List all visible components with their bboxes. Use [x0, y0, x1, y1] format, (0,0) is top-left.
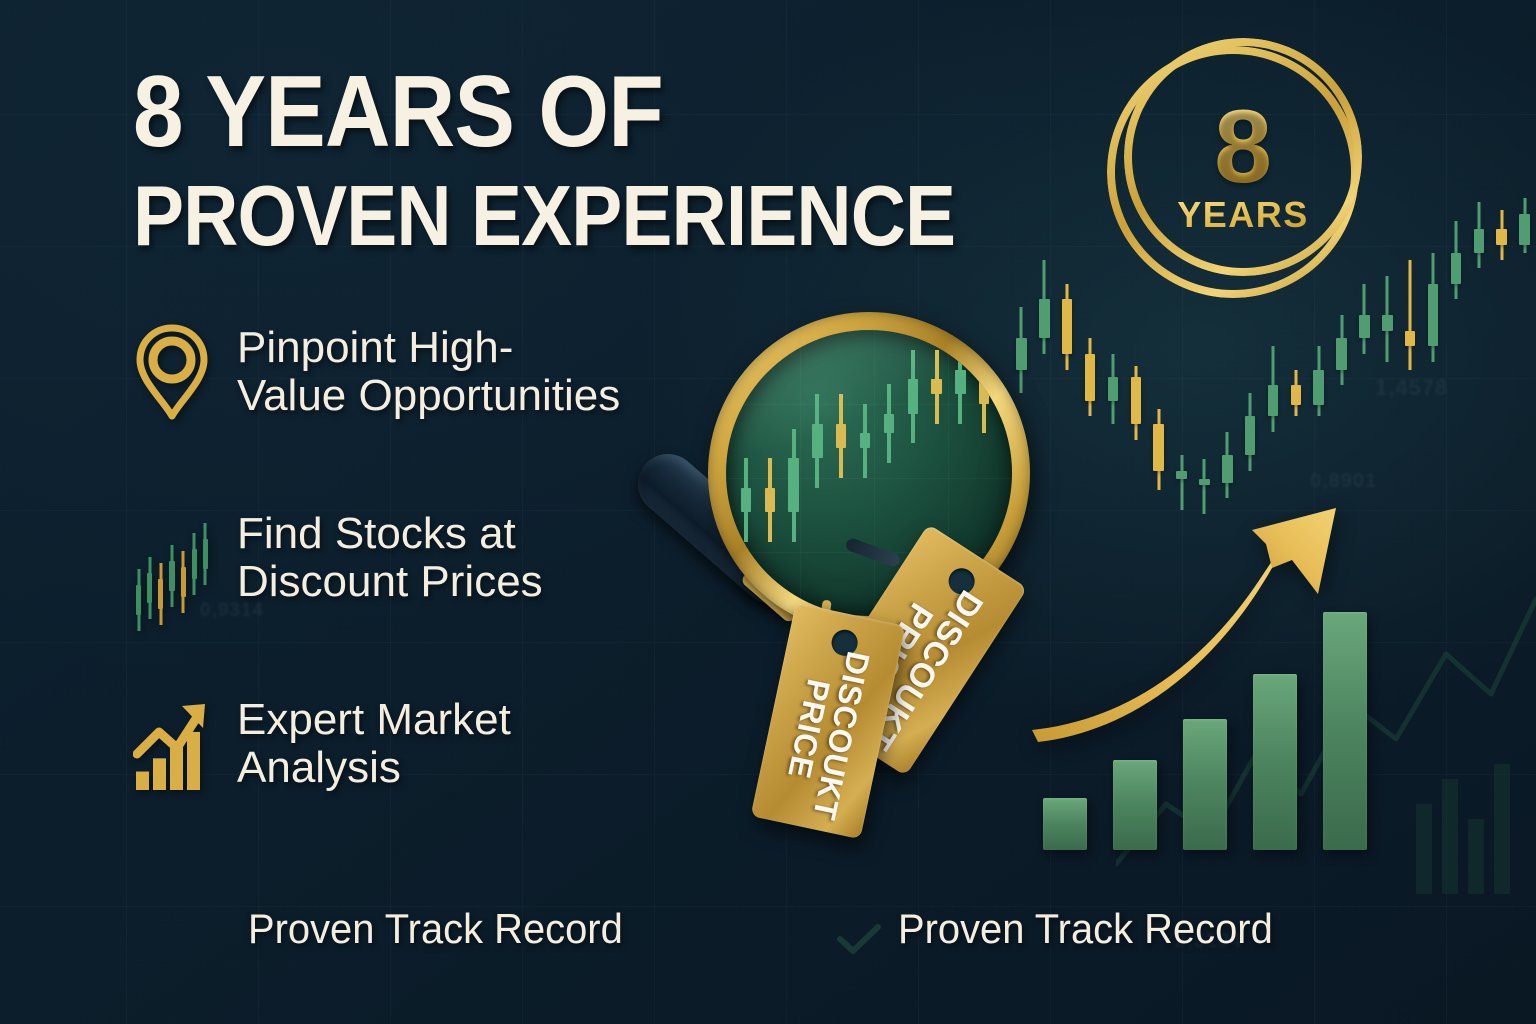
- feature-text-discount: Find Stocks at Discount Prices: [237, 508, 543, 606]
- candlestick: [1474, 180, 1485, 600]
- price-tag-front-label: DISCOUKT PRICE: [776, 642, 875, 823]
- headline-line-2: PROVEN EXPERIENCE: [133, 175, 997, 259]
- badge-label: YEARS: [1177, 194, 1309, 236]
- headline-block: 8 YEARS OF PROVEN EXPERIENCE: [133, 62, 1093, 259]
- candlestick: [1405, 180, 1416, 600]
- feature-item-analysis: Expert Market Analysis: [133, 694, 753, 794]
- checkmark-icon: [836, 923, 882, 957]
- icon-bar: [170, 746, 183, 790]
- candlestick: [1382, 180, 1393, 600]
- icon-candlestick: [169, 508, 174, 608]
- icon-bar: [153, 758, 166, 790]
- footer-label-left: Proven Track Record: [248, 905, 623, 953]
- feature-line-2: Discount Prices: [237, 558, 543, 606]
- icon-candlestick: [181, 508, 186, 608]
- icon-candlestick: [136, 508, 141, 608]
- candlestick-chart-icon: [133, 508, 211, 608]
- icon-candlestick: [158, 508, 163, 608]
- headline-line-1: 8 YEARS OF: [133, 62, 997, 162]
- icon-bar: [136, 772, 149, 790]
- feature-text-pinpoint: Pinpoint High- Value Opportunities: [237, 322, 620, 420]
- feature-line-2: Analysis: [237, 744, 511, 792]
- promo-graphic-canvas: 1,45780,89012,31040,93141,0274 8 YEARS O…: [0, 0, 1536, 1024]
- footer-label-right: Proven Track Record: [898, 905, 1273, 953]
- feature-list: Pinpoint High- Value Opportunities Find …: [133, 322, 753, 880]
- icon-candlestick: [203, 508, 208, 608]
- icon-candlestick: [192, 508, 197, 608]
- feature-line-1: Find Stocks at: [237, 510, 543, 558]
- feature-line-2: Value Opportunities: [237, 372, 620, 420]
- location-pin-icon: [133, 322, 211, 422]
- feature-item-pinpoint: Pinpoint High- Value Opportunities: [133, 322, 753, 422]
- anniversary-badge: 8 YEARS: [1107, 38, 1375, 306]
- icon-bar: [187, 732, 200, 790]
- candlestick: [1496, 180, 1507, 600]
- candlestick: [1519, 180, 1530, 600]
- badge-number: 8: [1214, 104, 1272, 191]
- upward-trend-arrow-icon: [1020, 490, 1380, 790]
- feature-text-analysis: Expert Market Analysis: [237, 694, 511, 792]
- feature-line-1: Pinpoint High-: [237, 324, 620, 372]
- feature-line-1: Expert Market: [237, 696, 511, 744]
- candlestick: [1428, 180, 1439, 600]
- candlestick: [1451, 180, 1462, 600]
- badge-text-group: 8 YEARS: [1125, 52, 1361, 288]
- footer-row: Proven Track Record Proven Track Record: [0, 905, 1536, 975]
- growth-bar-chart-icon: [133, 694, 211, 794]
- feature-item-discount: Find Stocks at Discount Prices: [133, 508, 753, 608]
- icon-candlestick: [147, 508, 152, 608]
